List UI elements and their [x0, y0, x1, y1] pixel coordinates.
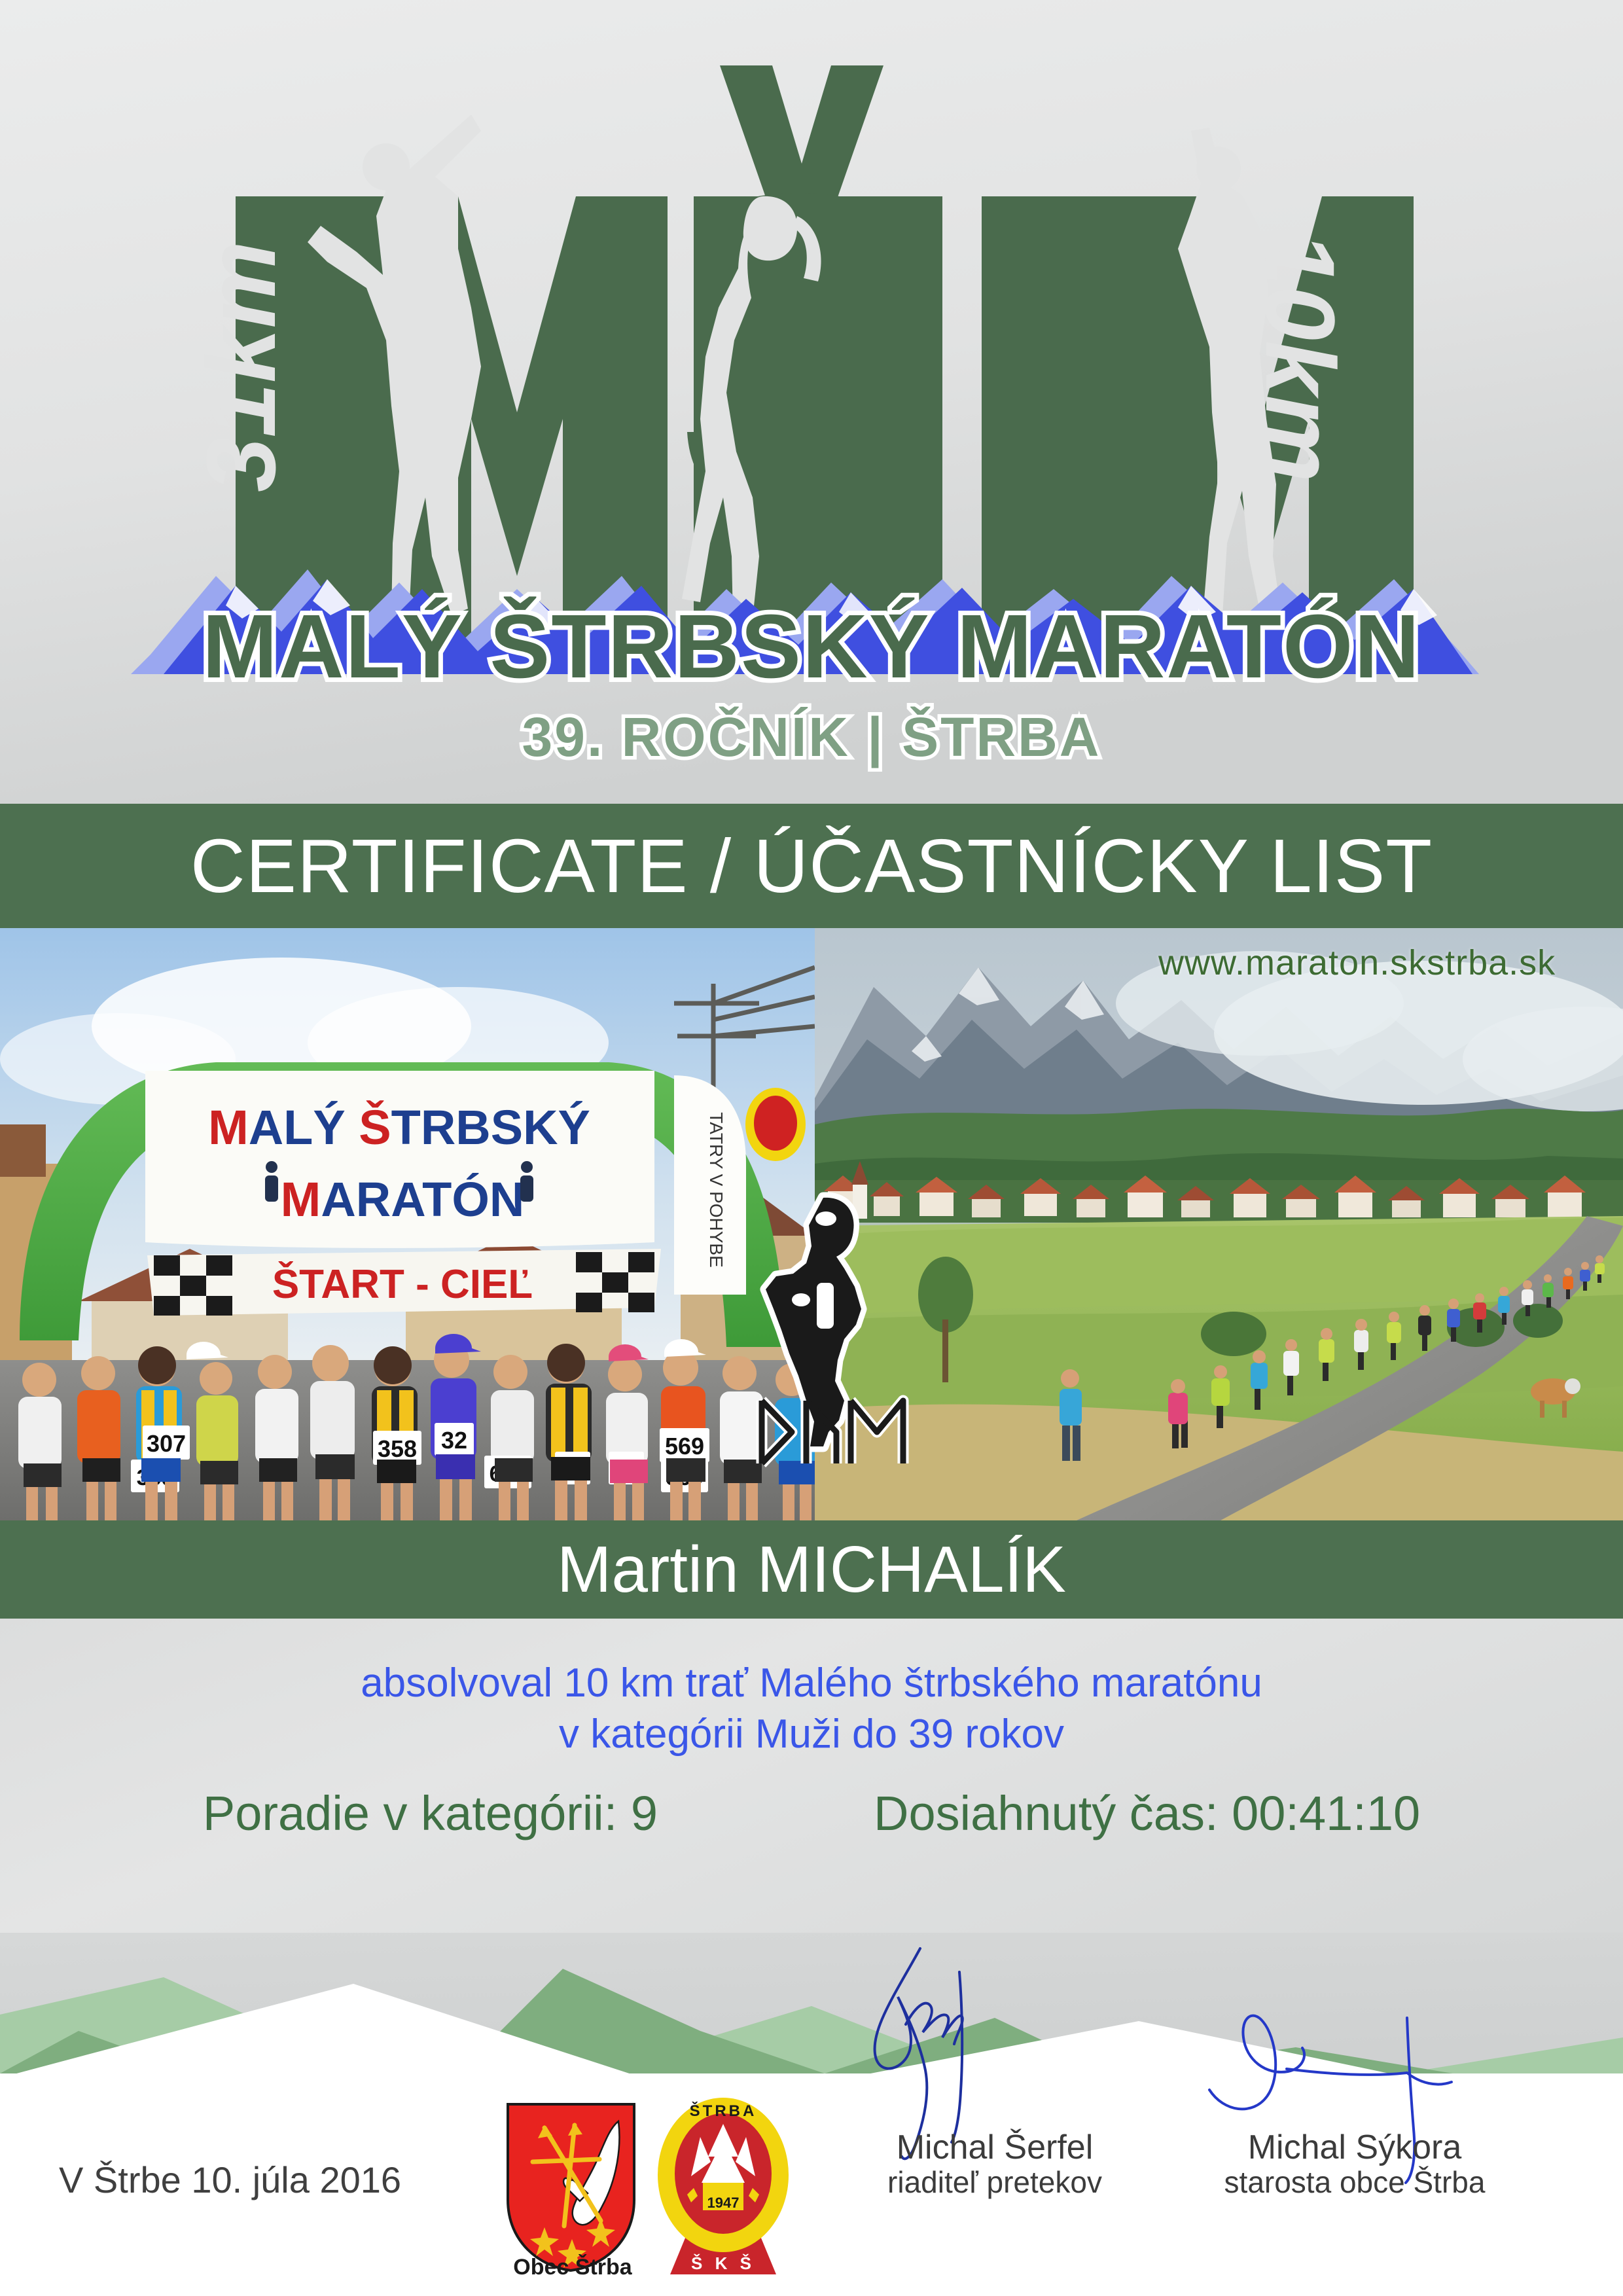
sks-year: 1947 [707, 2195, 740, 2211]
flag-text: TATRY V POHYBE [706, 1112, 726, 1268]
participant-description: absolvoval 10 km trať Malého štrbského m… [0, 1658, 1623, 1759]
participant-info: absolvoval 10 km trať Malého štrbského m… [0, 1619, 1623, 1933]
obec-strba-crest-icon [504, 2102, 638, 2273]
logo-header: 31km 10km MALÝ ŠTRBSKÝ MARATÓN [0, 0, 1623, 804]
certificate-title: CERTIFICATE / ÚČASTNÍCKY LIST [190, 828, 1433, 904]
participant-name: Martin MICHALÍK [557, 1537, 1066, 1602]
description-line-2: v kategórii Muži do 39 rokov [0, 1709, 1623, 1760]
logo-title: MALÝ ŠTRBSKÝ MARATÓN [202, 596, 1421, 697]
distance-left-label: 31km [186, 241, 296, 492]
certificate-title-band: CERTIFICATE / ÚČASTNÍCKY LIST [0, 804, 1623, 928]
participant-name-band: Martin MICHALÍK [0, 1520, 1623, 1619]
svg-text:10km: 10km [1245, 231, 1355, 482]
crest-caption: Obec Štrba [484, 2255, 661, 2280]
bib-number: 358 [378, 1435, 417, 1462]
photo-countryside [815, 928, 1623, 1520]
start-finish-banner-text: ŠTART - CIEĽ [272, 1262, 533, 1307]
footer-content: V Štrbe 10. júla 2016 [0, 1933, 1623, 2296]
photo-start-line: MALÝ ŠTRBSKÝ MARATÓN [0, 928, 815, 1520]
bib-number: 569 [665, 1433, 704, 1460]
finish-time: Dosiahnutý čas: 00:41:10 [874, 1785, 1420, 1841]
description-line-1: absolvoval 10 km trať Malého štrbského m… [0, 1658, 1623, 1709]
bib-number: 307 [147, 1430, 186, 1457]
place-and-date: V Štrbe 10. júla 2016 [59, 2159, 401, 2201]
svg-text:39. ROČNÍK | ŠTRBA: 39. ROČNÍK | ŠTRBA [522, 706, 1101, 768]
bib-number: 32 [441, 1427, 467, 1454]
signature-block-mayor: Michal Sýkora starosta obce Štrba [1178, 2129, 1531, 2199]
arch-text-line1: MALÝ ŠTRBSKÝ [208, 1100, 590, 1155]
signatory-role: riaditeľ pretekov [825, 2166, 1165, 2199]
msm-logo-graphic: 31km 10km MALÝ ŠTRBSKÝ MARATÓN [0, 0, 1623, 804]
svg-text:31km: 31km [186, 241, 296, 492]
signatory-name: Michal Šerfel [825, 2129, 1165, 2166]
certificate-footer: V Štrbe 10. júla 2016 [0, 1933, 1623, 2296]
results-row: Poradie v kategórii: 9 Dosiahnutý čas: 0… [0, 1785, 1623, 1841]
certificate-page: 31km 10km MALÝ ŠTRBSKÝ MARATÓN [0, 0, 1623, 2296]
msm-runner-badge: MŠM [746, 1185, 923, 1473]
sks-bottom-label: Š K Š [691, 2253, 755, 2273]
arch-text-line2: MARATÓN [281, 1172, 525, 1227]
distance-right-label: 10km [1245, 231, 1355, 482]
logo-subtitle: 39. ROČNÍK | ŠTRBA [522, 706, 1101, 768]
signatory-name: Michal Sýkora [1178, 2129, 1531, 2166]
start-line-illustration: MALÝ ŠTRBSKÝ MARATÓN [0, 928, 815, 1520]
signatory-role: starosta obce Štrba [1178, 2166, 1531, 2199]
category-rank: Poradie v kategórii: 9 [203, 1785, 658, 1841]
sks-top-label: ŠTRBA [690, 2102, 757, 2120]
svg-text:MALÝ ŠTRBSKÝ MARATÓN: MALÝ ŠTRBSKÝ MARATÓN [202, 596, 1421, 697]
sks-club-crest-icon: 1947 ŠTRBA Š K Š [654, 2096, 792, 2274]
countryside-illustration [815, 928, 1623, 1520]
signature-block-director: Michal Šerfel riaditeľ pretekov [825, 2129, 1165, 2199]
website-url[interactable]: www.maraton.skstrba.sk [1158, 942, 1556, 983]
